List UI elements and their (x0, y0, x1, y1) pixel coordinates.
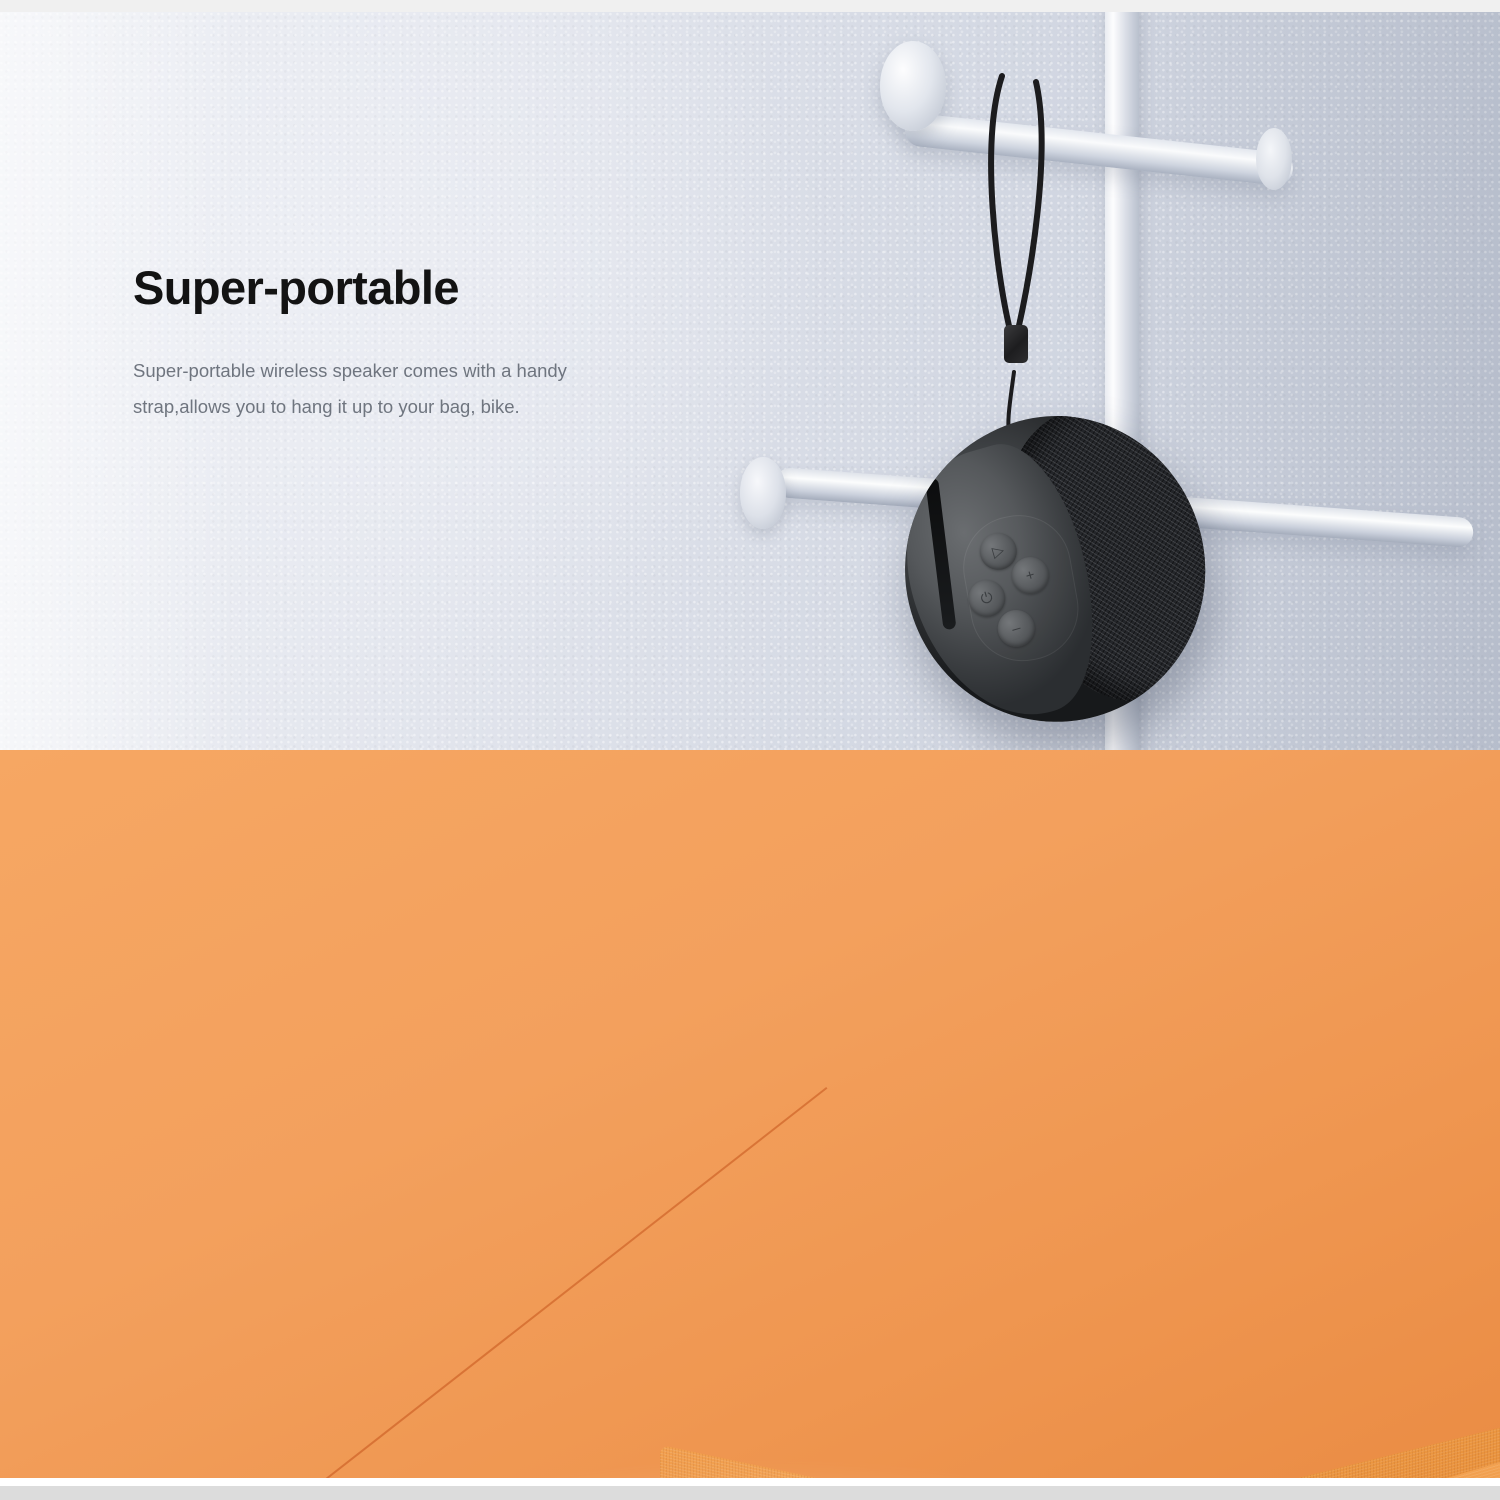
cord-lock-toggle-icon (1004, 325, 1028, 363)
page-title: Super-portable (133, 264, 573, 311)
black-lanyard-strap-icon (940, 72, 1120, 452)
top-panel-copy: Super-portable Super-portable wireless s… (133, 264, 573, 425)
lower-rail-wall-flange-icon (740, 457, 786, 529)
top-panel-description: Super-portable wireless speaker comes wi… (133, 353, 573, 425)
bottom-frame-strip (0, 1486, 1500, 1500)
rail-end-cap-icon (880, 41, 946, 131)
panel-super-portable: ▷ ⏻ + – Super-portable Super-portable wi… (0, 12, 1500, 750)
rail-wall-flange-icon (1256, 128, 1292, 190)
panel-compact-powerful-sound: Compact and powerful sound Compact desig… (0, 750, 1500, 1478)
top-frame-strip (0, 0, 1500, 12)
product-feature-page: ▷ ⏻ + – Super-portable Super-portable wi… (0, 0, 1500, 1500)
concentric-sound-wave-rings-inner (0, 750, 1500, 1478)
bottom-white-strip (0, 1478, 1500, 1486)
